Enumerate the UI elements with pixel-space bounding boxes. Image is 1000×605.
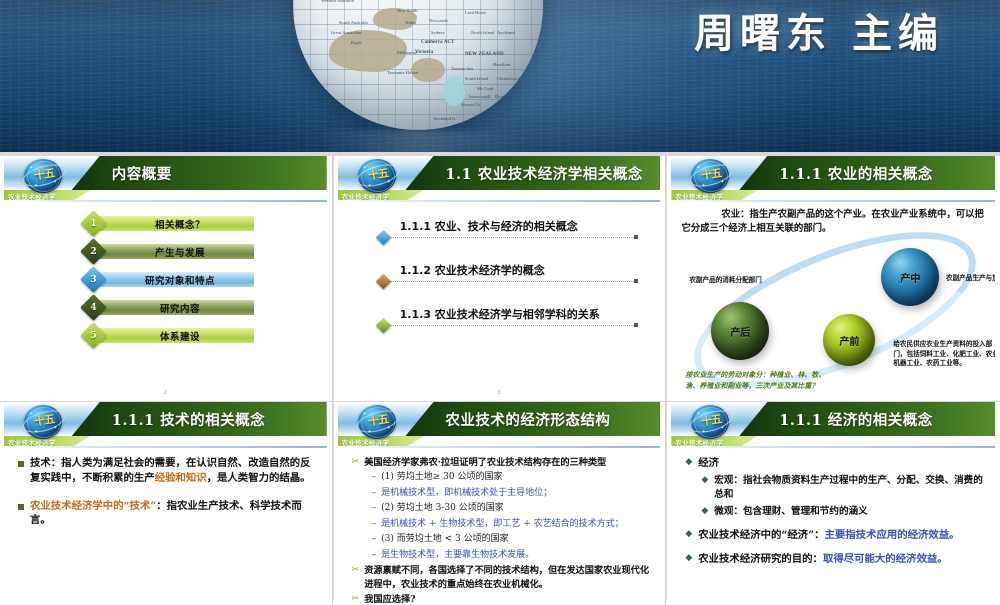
slide-header: 内容概要 十五 ✦ ✦ ✦ 农业技术经济学 bbox=[4, 156, 327, 202]
outline-item-number: 2 bbox=[84, 242, 103, 261]
structure-subrow-text: (1) 劳均土地≥ 30 公顷的国家 bbox=[381, 471, 502, 485]
structure-row: ✂资源禀赋不同，各国选择了不同的技术结构，但在发达国家农业现代化进程中，农业技术… bbox=[352, 564, 651, 591]
outline-item-bar: 相关概念？ bbox=[98, 216, 254, 231]
bullet-row: 农业技术经济学中的“技术”：指农业生产技术、科学技术而言。 bbox=[18, 499, 317, 529]
outline-item[interactable]: 研究内容4 bbox=[84, 298, 254, 317]
concept-item[interactable]: 1.1.3 农业技术经济学与相邻学科的关系 bbox=[378, 306, 639, 350]
annotation-post: 农副产品的消耗分配部门 bbox=[689, 276, 809, 286]
economy-text-span: 主要指技术应用的经济效益。 bbox=[825, 529, 960, 541]
bullet-row: 技术：指人类为满足社会的需要，在认识自然、改造自然的反复实践中，不断积累的生产经… bbox=[18, 456, 317, 486]
concept-item-label: 1.1.1 农业、技术与经济的相关概念 bbox=[400, 218, 578, 234]
economy-row-text: 农业技术经济研究的目的：取得尽可能大的经济效益。 bbox=[698, 552, 947, 567]
outline-item-number: 4 bbox=[84, 298, 103, 317]
course-logo-icon: 十五 ✦ ✦ ✦ bbox=[356, 403, 400, 443]
globe-label: Great Australian bbox=[331, 30, 362, 36]
structure-row: ✂美国经济学家弗农·拉坦证明了农业技术结构存在的三种类型 bbox=[352, 456, 651, 469]
concept-item-label: 1.1.2 农业技术经济学的概念 bbox=[400, 262, 545, 278]
water-reflection bbox=[318, 130, 518, 152]
square-bullet-icon bbox=[18, 504, 24, 510]
structure-subrow: –(1) 劳均土地≥ 30 公顷的国家 bbox=[352, 471, 651, 485]
outline-item-bar: 产生与发展 bbox=[98, 244, 254, 259]
sphere-post-production: 产后 bbox=[711, 302, 769, 360]
slide-agriculture[interactable]: 1.1.1 农业的相关概念 十五 ✦ ✦ ✦ 农业技术经济学 农业：指生产农副产… bbox=[667, 156, 1000, 401]
outline-item-label: 研究内容 bbox=[152, 301, 200, 315]
diamond-bullet-icon: ◆ bbox=[685, 552, 692, 567]
concept-item-end-marker bbox=[634, 235, 638, 239]
outline-list: 相关概念？1产生与发展2研究对象和特点3研究内容4体系建设5 bbox=[84, 214, 254, 354]
concept-item-leader-line bbox=[390, 281, 635, 282]
globe-label: South Australia bbox=[339, 20, 368, 26]
course-logo-icon: 十五 ✦ ✦ ✦ bbox=[689, 157, 733, 197]
globe-label: Dunedin bbox=[495, 94, 511, 100]
outline-item[interactable]: 产生与发展2 bbox=[84, 242, 254, 261]
dash-bullet-icon: – bbox=[372, 549, 377, 563]
outline-item-bar: 体系建设 bbox=[98, 328, 254, 343]
outline-item-bar: 研究内容 bbox=[98, 300, 254, 315]
page-number: 2 bbox=[4, 390, 327, 396]
cross-bullet-icon: ✂ bbox=[352, 564, 360, 591]
globe-label: Sydney bbox=[431, 30, 445, 36]
concept-item[interactable]: 1.1.2 农业技术经济学的概念 bbox=[378, 262, 639, 306]
slide-technology[interactable]: 1.1.1 技术的相关概念 十五 ✦ ✦ ✦ 农业技术经济学 技术：指人类为满足… bbox=[0, 402, 333, 605]
outline-item-number: 1 bbox=[84, 214, 103, 233]
slide-title: 1.1.1 技术的相关概念 bbox=[72, 402, 327, 436]
title-banner: Western AustraliaSouth AustraliaNew Sout… bbox=[0, 0, 1000, 152]
header-underline bbox=[4, 200, 327, 202]
globe-label: Newcastle bbox=[429, 18, 448, 24]
globe-label: Christchurch bbox=[497, 76, 521, 82]
landmass-australia bbox=[329, 30, 407, 72]
structure-subrow: –(3) 而劳均土地 < 3 公顷的国家 bbox=[352, 533, 651, 547]
slide-header: 1.1.1 技术的相关概念 十五 ✦ ✦ ✦ 农业技术经济学 bbox=[4, 402, 327, 448]
square-bullet-icon bbox=[18, 461, 24, 467]
dash-bullet-icon: – bbox=[372, 471, 377, 485]
concept-item-end-marker bbox=[634, 279, 638, 283]
globe-label: North Island bbox=[471, 30, 494, 36]
economy-row: ◆经济 bbox=[685, 456, 985, 471]
economy-bullets: ◆经济◆宏观：指社会物质资料生产过程中的生产、分配、交换、消费的总和◆微观：包含… bbox=[685, 456, 985, 603]
annotation-mid: 农副产品生产与加工 bbox=[933, 274, 995, 284]
bullet-text-span: 经验和知识 bbox=[155, 472, 207, 484]
concept-item-label: 1.1.3 农业技术经济学与相邻学科的关系 bbox=[400, 306, 600, 322]
globe-label: Western Australia bbox=[321, 0, 354, 4]
course-logo-icon: 十五 ✦ ✦ ✦ bbox=[356, 157, 400, 197]
page-number: 3 bbox=[338, 390, 661, 396]
globe-label: NEW ZEALAND bbox=[465, 52, 504, 58]
economy-row-text: 经济 bbox=[698, 456, 719, 471]
economy-text-span: 农业技术经济中的“经济”： bbox=[698, 529, 824, 541]
outline-item-label: 体系建设 bbox=[152, 329, 200, 343]
slide-title: 农业技术的经济形态结构 bbox=[405, 402, 660, 436]
globe-label: Tasmania Hobart bbox=[387, 70, 419, 76]
slide-structure[interactable]: 农业技术的经济形态结构 十五 ✦ ✦ ✦ 农业技术经济学 ✂美国经济学家弗农·拉… bbox=[334, 402, 667, 605]
author-credit: 周曙东 主编 bbox=[694, 10, 944, 58]
economy-row-text: 宏观：指社会物质资料生产过程中的生产、分配、交换、消费的总和 bbox=[714, 474, 985, 502]
header-underline bbox=[671, 200, 995, 202]
globe-label: Bight bbox=[351, 40, 361, 46]
dash-bullet-icon: – bbox=[372, 502, 377, 516]
diamond-bullet-icon: ◆ bbox=[701, 505, 708, 519]
structure-subrow-text: 是机械技术型，即机械技术处于主导地位； bbox=[381, 487, 552, 501]
header-underline bbox=[671, 446, 995, 448]
economy-row-text: 农业技术经济中的“经济”：主要指技术应用的经济效益。 bbox=[698, 528, 959, 543]
globe-label: Auckland Is. bbox=[433, 116, 457, 122]
concept-item[interactable]: 1.1.1 农业、技术与经济的相关概念 bbox=[378, 218, 639, 262]
globe-label: Lord Howe bbox=[465, 10, 486, 16]
economy-text-span: 经济 bbox=[698, 457, 719, 469]
structure-subrow: –(2) 劳均土地 3-30 公顷的国家 bbox=[352, 502, 651, 516]
structure-subrow: –是生物技术型，主要靠生物技术发展。 bbox=[352, 549, 651, 563]
annotation-green: 按农业生产的劳动对象分：种植业、林、牧、渔、养殖业和副业等，三次产业及其比重？ bbox=[685, 370, 825, 392]
diamond-bullet-icon: ◆ bbox=[685, 528, 692, 543]
outline-item-label: 产生与发展 bbox=[147, 245, 205, 259]
course-logo-icon: 十五 ✦ ✦ ✦ bbox=[22, 403, 66, 443]
economy-text-span: 微观：包含理财、管理和节约的涵义 bbox=[714, 506, 868, 517]
structure-subrow-text: 是机械技术 + 生物技术型，即工艺 + 农艺结合的技术方式； bbox=[381, 518, 624, 532]
outline-item-number: 3 bbox=[84, 270, 103, 289]
structure-subrow: –是机械技术 + 生物技术型，即工艺 + 农艺结合的技术方式； bbox=[352, 518, 651, 532]
dash-bullet-icon: – bbox=[372, 533, 377, 547]
globe-label: Invercargill bbox=[469, 94, 491, 100]
agriculture-definition: 农业：指生产农副产品的这个产业。在农业产业系统中，可以把它分成三个经济上相互关联… bbox=[681, 208, 985, 236]
globe-label: Tasman Sea bbox=[451, 66, 473, 72]
technology-bullets: 技术：指人类为满足社会的需要，在认识自然、改造自然的反复实践中，不断积累的生产经… bbox=[18, 456, 317, 603]
header-underline bbox=[4, 446, 327, 448]
globe-label: South Island bbox=[465, 76, 488, 82]
header-underline bbox=[338, 200, 661, 202]
structure-row-text: 美国经济学家弗农·拉坦证明了农业技术结构存在的三种类型 bbox=[364, 456, 606, 469]
diamond-bullet-icon: ◆ bbox=[685, 456, 692, 471]
slide-concepts[interactable]: 1.1 农业技术经济学相关概念 十五 ✦ ✦ ✦ 农业技术经济学 1.1.1 农… bbox=[334, 156, 667, 401]
structure-row: ✂我国应选择? bbox=[352, 593, 651, 603]
concept-item-leader-line bbox=[390, 237, 635, 238]
slide-outline[interactable]: 内容概要 十五 ✦ ✦ ✦ 农业技术经济学 相关概念？1产生与发展2研究对象和特… bbox=[0, 156, 333, 401]
economy-text-span: 取得尽可能大的经济效益。 bbox=[823, 553, 948, 565]
course-logo-icon: 十五 ✦ ✦ ✦ bbox=[689, 403, 733, 443]
outline-item-label: 相关概念？ bbox=[147, 217, 205, 231]
dash-bullet-icon: – bbox=[372, 518, 377, 532]
outline-item-number: 5 bbox=[84, 326, 103, 345]
structure-subrow-text: 是生物技术型，主要靠生物技术发展。 bbox=[381, 549, 534, 563]
globe-label: Hamilton bbox=[493, 62, 510, 68]
economy-row: ◆微观：包含理财、管理和节约的涵义 bbox=[685, 505, 985, 519]
slide-title: 1.1 农业技术经济学相关概念 bbox=[405, 156, 660, 190]
slide-title: 1.1.1 经济的相关概念 bbox=[739, 402, 995, 436]
economy-text-span: 农业技术经济研究的目的： bbox=[698, 553, 823, 565]
slide-header: 1.1.1 经济的相关概念 十五 ✦ ✦ ✦ 农业技术经济学 bbox=[671, 402, 995, 448]
concept-item-end-marker bbox=[634, 323, 638, 327]
header-underline bbox=[338, 446, 661, 448]
bullet-text: 农业技术经济学中的“技术”：指农业生产技术、科学技术而言。 bbox=[30, 499, 317, 529]
cross-bullet-icon: ✂ bbox=[352, 456, 360, 469]
outline-item[interactable]: 体系建设5 bbox=[84, 326, 254, 345]
bullet-text-span: 农业技术经济学中的“技术” bbox=[30, 500, 156, 512]
slide-economy[interactable]: 1.1.1 经济的相关概念 十五 ✦ ✦ ✦ 农业技术经济学 ◆经济◆宏观：指社… bbox=[667, 402, 1000, 605]
globe-label: Canberra ACT bbox=[421, 40, 455, 46]
course-logo-icon: 十五 ✦ ✦ ✦ bbox=[22, 157, 66, 197]
annotation-pre: 给农民供应农业生产资料的投入部门，包括饲料工业、化肥工业、农业机器工业、农药工业… bbox=[893, 340, 995, 369]
bullet-text-span: ，是人类智力的结晶。 bbox=[207, 472, 311, 484]
concept-item-diamond bbox=[375, 318, 391, 334]
structure-row-text: 资源禀赋不同，各国选择了不同的技术结构，但在发达国家农业现代化进程中，农业技术的… bbox=[364, 564, 650, 591]
slide-header: 1.1.1 农业的相关概念 十五 ✦ ✦ ✦ 农业技术经济学 bbox=[671, 156, 995, 202]
bullet-text: 技术：指人类为满足社会的需要，在认识自然、改造自然的反复实践中，不断积累的生产经… bbox=[30, 456, 317, 486]
concept-list: 1.1.1 农业、技术与经济的相关概念1.1.2 农业技术经济学的概念1.1.3… bbox=[378, 218, 639, 350]
structure-subrow: –是机械技术型，即机械技术处于主导地位； bbox=[352, 487, 651, 501]
globe-label: New South bbox=[397, 8, 418, 14]
dash-bullet-icon: – bbox=[372, 487, 377, 501]
globe-label: Auckland bbox=[497, 30, 515, 36]
economy-row-text: 微观：包含理财、管理和节约的涵义 bbox=[714, 505, 868, 519]
structure-bullets: ✂美国经济学家弗农·拉坦证明了农业技术结构存在的三种类型–(1) 劳均土地≥ 3… bbox=[352, 456, 651, 603]
economy-row: ◆农业技术经济研究的目的：取得尽可能大的经济效益。 bbox=[685, 552, 985, 567]
outline-item-bar: 研究对象和特点 bbox=[98, 272, 254, 287]
slide-header: 1.1 农业技术经济学相关概念 十五 ✦ ✦ ✦ 农业技术经济学 bbox=[338, 156, 661, 202]
diamond-bullet-icon: ◆ bbox=[701, 474, 708, 502]
structure-subrow-text: (2) 劳均土地 3-30 公顷的国家 bbox=[381, 502, 504, 516]
sphere-pre-production: 产前 bbox=[823, 314, 875, 366]
globe-label: Victoria bbox=[415, 50, 433, 56]
concept-item-leader-line bbox=[390, 325, 635, 326]
agriculture-diagram: 产后 产前 产中 农副产品的消耗分配部门 农副产品生产与加工 给农民供应农业生产… bbox=[671, 244, 995, 401]
concept-item-diamond bbox=[375, 230, 391, 246]
economy-row: ◆宏观：指社会物质资料生产过程中的生产、分配、交换、消费的总和 bbox=[685, 474, 985, 502]
slide-title: 内容概要 bbox=[72, 156, 327, 190]
slide-title: 1.1.1 农业的相关概念 bbox=[739, 156, 995, 190]
structure-subrow-text: (3) 而劳均土地 < 3 公顷的国家 bbox=[381, 533, 508, 547]
cross-bullet-icon: ✂ bbox=[352, 593, 360, 603]
slide-thumbnail-grid: 内容概要 十五 ✦ ✦ ✦ 农业技术经济学 相关概念？1产生与发展2研究对象和特… bbox=[0, 152, 1000, 600]
concept-item-diamond bbox=[375, 274, 391, 290]
slide-header: 农业技术的经济形态结构 十五 ✦ ✦ ✦ 农业技术经济学 bbox=[338, 402, 661, 448]
globe-label: Wales bbox=[405, 20, 416, 26]
sphere-mid-production: 产中 bbox=[881, 248, 939, 306]
structure-row-text: 我国应选择? bbox=[364, 593, 415, 603]
globe-label: Mt Cook bbox=[477, 86, 493, 92]
outline-item[interactable]: 相关概念？1 bbox=[84, 214, 254, 233]
globe-label: Stewart Is. bbox=[461, 102, 481, 108]
outline-item[interactable]: 研究对象和特点3 bbox=[84, 270, 254, 289]
outline-item-label: 研究对象和特点 bbox=[137, 273, 215, 287]
economy-row: ◆农业技术经济中的“经济”：主要指技术应用的经济效益。 bbox=[685, 528, 985, 543]
economy-text-span: 宏观：指社会物质资料生产过程中的生产、分配、交换、消费的总和 bbox=[714, 475, 983, 500]
